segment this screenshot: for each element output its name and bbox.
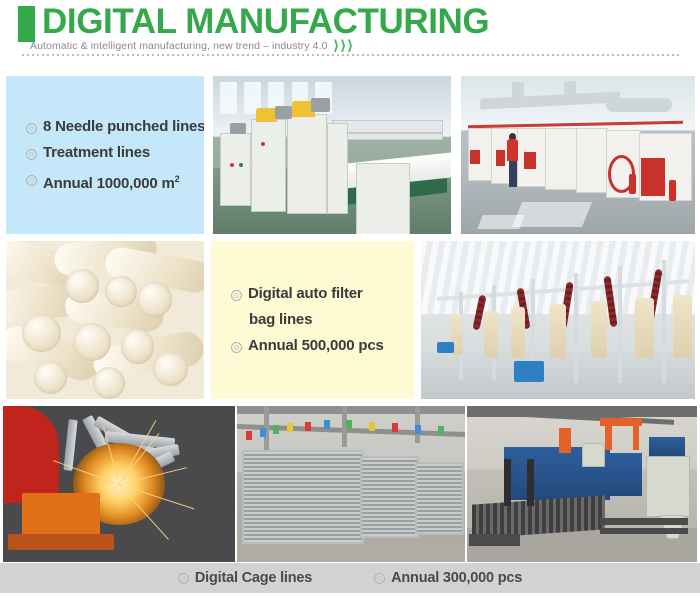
photo-bunting-flag [346,420,352,429]
photo-hanging-fabric [484,311,498,358]
photo-bunting-flag [305,422,311,431]
photo-red-panel [524,152,536,169]
photo-cage-stack [415,462,465,535]
photo-conveyor [600,518,687,524]
photo-stacked-wire-cages [237,406,465,562]
photo-bag-opening [65,269,99,302]
caption-item-cage-lines: Digital Cage lines [178,570,312,586]
photo-needle-punch-production-line [213,76,451,234]
photo-worker-torso [507,139,519,161]
photo-motor [311,98,330,112]
photo-window [220,82,237,114]
photo-duct-riser [564,81,576,102]
photo-bunting-flag [324,420,330,429]
page-subtitle: Automatic & intelligent manufacturing, n… [30,40,328,53]
photo-orange-frame [605,425,612,450]
bullet-icon [231,342,242,353]
photo-bag-opening [73,323,111,361]
photo-blue-bin [437,342,453,353]
list-item: Treatment lines [26,140,204,166]
photo-press-frame [527,459,534,506]
photo-bunting-flag [369,422,375,431]
photo-machine-cabinet [356,163,410,234]
photo-blue-bin [514,361,544,382]
bullet-icon [231,290,242,301]
photo-motor [275,106,292,119]
photo-canvas [421,241,695,399]
list-item: 8 Needle punched lines [26,114,204,140]
needle-punch-info-panel: 8 Needle punched lines Treatment lines A… [6,76,204,234]
list-item-label: Annual 500,000 pcs [248,333,384,359]
photo-red-panel [470,150,479,164]
chevron-arrows-icon: ⟩ ⟩ ⟩ [333,38,353,52]
filter-bag-bullet-list: Digital auto filter bag lines Annual 500… [211,281,414,359]
list-item-text: Annual 1000,000 m [43,175,175,192]
photo-blue-hopper [649,437,686,456]
photo-bag-opening [105,276,137,308]
bullet-icon [374,573,385,584]
photo-treatment-dryer-line [461,76,695,234]
needle-punch-bullet-list: 8 Needle punched lines Treatment lines A… [6,114,204,197]
photo-sunlight [477,215,525,229]
photo-control-button [249,163,253,167]
photo-bunting-flag [415,425,421,434]
photo-dryer-cabinet [545,128,577,190]
photo-worker-legs [509,161,517,186]
photo-hanging-fabric [511,307,525,358]
photo-roof-beam [237,406,465,414]
filter-bag-info-panel: Digital auto filter bag lines Annual 500… [211,241,414,399]
photo-cage-stack [242,450,365,544]
list-item: Annual 1000,000 m2 [26,166,204,197]
photo-motor [230,123,247,134]
photo-canvas [6,241,204,399]
photo-tank [582,443,605,467]
photo-orange-frame [559,428,571,453]
photo-canvas [213,76,451,234]
photo-blue-booth [610,453,642,497]
page-header: DIGITAL MANUFACTURING Automatic & intell… [0,0,700,62]
photo-bag-opening [22,314,62,352]
photo-orange-base [8,534,115,550]
list-item-label: Treatment lines [43,140,150,166]
photo-fire-extinguisher [669,180,676,201]
list-item-label: bag lines [249,307,312,333]
photo-canvas [467,406,697,562]
photo-column [574,273,578,384]
header-divider [22,54,682,56]
photo-worker-red-shirt [3,406,59,503]
caption-label: Digital Cage lines [195,570,312,586]
list-item-label: Digital auto filter [248,281,363,307]
bullet-icon [26,175,37,186]
photo-trolley [469,534,520,546]
photo-canvas [237,406,465,562]
photo-cage-stack [360,456,419,538]
photo-hanging-fabric [591,301,607,358]
bottom-caption-bar: Digital Cage lines Annual 300,000 pcs [0,563,700,593]
photo-duct [606,98,672,112]
photo-bunting-flag [246,431,252,440]
photo-hanging-fabric [635,298,654,358]
photo-hanging-fabric [673,295,692,358]
photo-bag-opening [137,282,173,317]
photo-machine-cabinet [220,133,251,206]
photo-bunting-flag [273,425,279,434]
chevron-right-icon: ⟩ [340,38,346,52]
photo-cabinet [646,456,689,517]
bullet-icon [178,573,189,584]
photo-canvas [461,76,695,234]
bullet-icon [26,123,37,134]
photo-conveyor [600,528,687,534]
photo-machine-cabinet [251,119,286,213]
photo-duct-riser [512,82,524,101]
caption-label: Annual 300,000 pcs [391,570,522,586]
photo-bag-opening [153,352,189,387]
photo-bunting-flag [287,423,293,432]
photo-column [618,266,622,383]
photo-radial-welding-machine [3,406,235,562]
bullet-icon [26,149,37,160]
chevron-right-icon: ⟩ [333,38,339,52]
list-item-label: Annual 1000,000 m2 [43,166,179,197]
photo-bag-opening [34,361,68,394]
photo-machine-frame [327,123,348,213]
photo-cage-coating-line [467,406,697,562]
unit-superscript: 2 [175,174,180,184]
photo-red-door [641,158,664,196]
photo-hanging-fabric [550,304,566,358]
photo-filter-bag-sewing-hall [421,241,695,399]
photo-bag-opening [93,367,125,399]
photo-machine-cabinet [287,114,327,214]
photo-bunting-flag [392,423,398,432]
photo-fire-extinguisher [629,174,636,195]
photo-press-frame [504,459,511,506]
list-item: Annual 500,000 pcs [231,333,414,359]
list-item: Digital auto filter [231,281,414,307]
list-item-continuation: bag lines [231,307,414,333]
photo-red-panel [496,150,505,166]
list-item-label: 8 Needle punched lines [43,114,204,140]
photo-canvas [3,406,235,562]
digital-manufacturing-infographic: DIGITAL MANUFACTURING Automatic & intell… [0,0,700,598]
photo-column [662,260,666,383]
photo-overhead-beam [332,120,443,133]
photo-orange-frame [633,425,640,450]
photo-overhead-beam [332,133,443,140]
photo-bunting-flag [260,428,266,437]
photo-control-button [230,163,234,167]
photo-dryer-cabinet [576,128,608,193]
photo-filter-bags-closeup [6,241,204,399]
photo-bunting-flag [438,426,444,435]
header-accent-bar [18,6,35,42]
page-title: DIGITAL MANUFACTURING [42,0,489,44]
chevron-right-icon: ⟩ [347,38,353,52]
caption-item-annual-output: Annual 300,000 pcs [374,570,522,586]
